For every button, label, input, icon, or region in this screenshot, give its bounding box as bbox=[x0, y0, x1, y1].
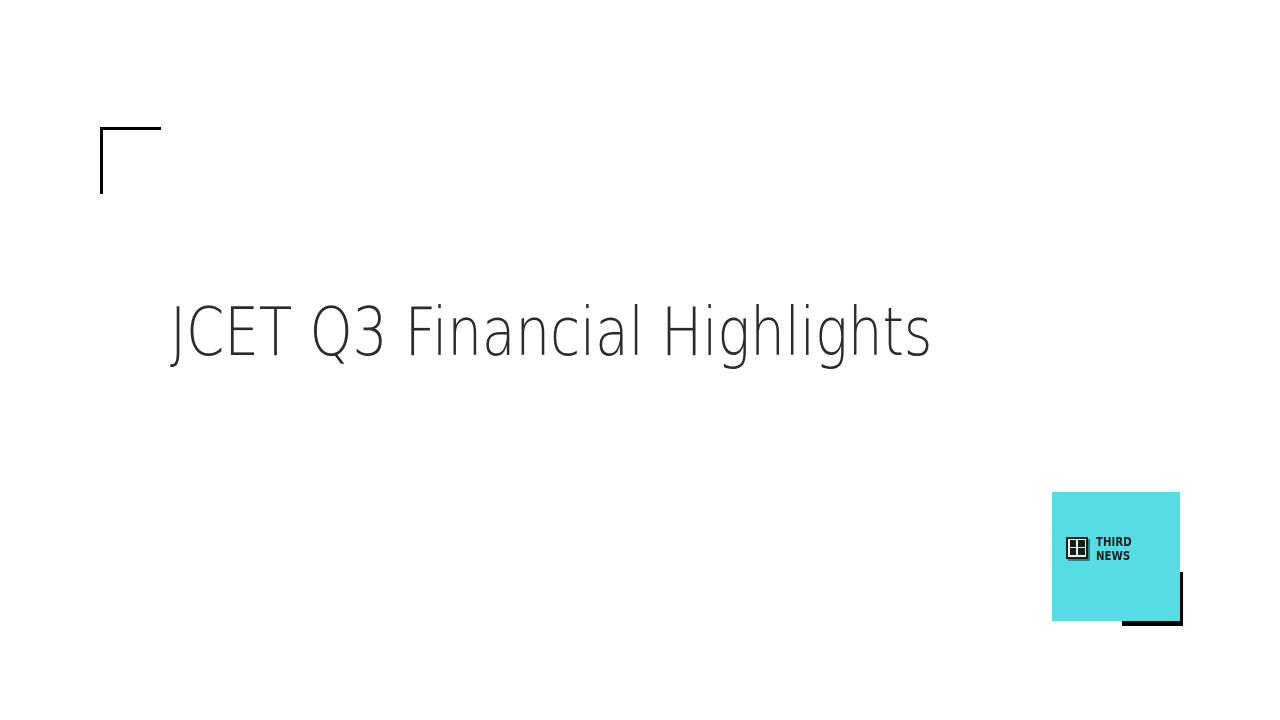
newspaper-window-icon-panes bbox=[1068, 539, 1086, 557]
logo-wordmark-line-2: NEWS bbox=[1096, 549, 1132, 563]
logo-lockup: THIRD NEWS bbox=[1066, 535, 1136, 562]
brand-logo-badge: THIRD NEWS bbox=[1052, 492, 1180, 621]
corner-bracket-vertical-bar bbox=[100, 127, 103, 194]
icon-pane-bottom-right bbox=[1078, 548, 1085, 555]
corner-bracket-decoration bbox=[100, 127, 161, 194]
icon-pane-top-left bbox=[1070, 540, 1077, 547]
title-block: JCET Q3 Financial Highlights bbox=[170, 296, 1110, 370]
title-slide: JCET Q3 Financial Highlights THIRD bbox=[0, 0, 1280, 720]
icon-pane-bottom-left bbox=[1070, 548, 1077, 555]
newspaper-window-icon bbox=[1066, 537, 1090, 561]
newspaper-window-icon-body bbox=[1066, 537, 1088, 559]
page-title: JCET Q3 Financial Highlights bbox=[170, 296, 941, 370]
icon-pane-top-right bbox=[1078, 540, 1085, 547]
corner-bracket-horizontal-bar bbox=[100, 127, 161, 130]
logo-wordmark: THIRD NEWS bbox=[1096, 535, 1132, 562]
logo-wordmark-line-1: THIRD bbox=[1096, 535, 1132, 549]
